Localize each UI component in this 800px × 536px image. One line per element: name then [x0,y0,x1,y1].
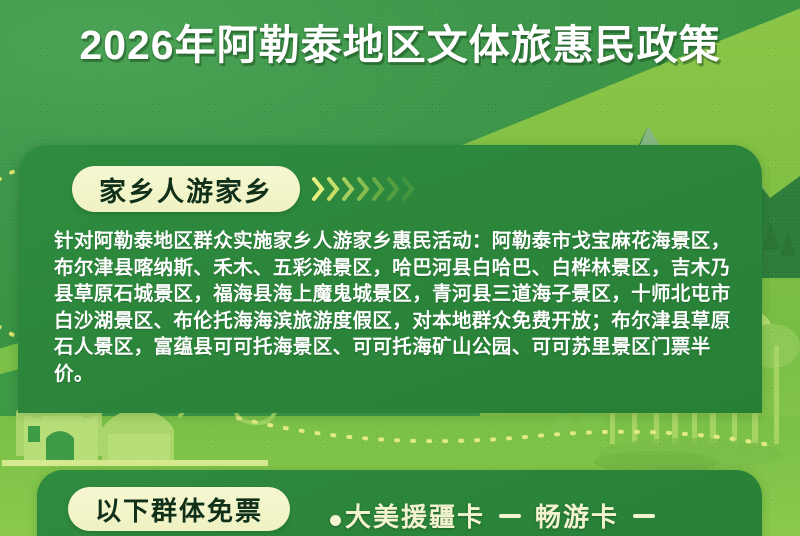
hometown-policy-paragraph: 针对阿勒泰地区群众实施家乡人游家乡惠民活动：阿勒泰市戈宝麻花海景区，布尔津县喀纳… [54,228,744,387]
page-title: 2026年阿勒泰地区文体旅惠民政策 [0,14,800,76]
poster-root: 2026年阿勒泰地区文体旅惠民政策 家乡人游家乡 针对阿勒泰地区群众实施家乡人游… [0,0,800,536]
free-tickets-item-list: 大美援疆卡 畅游卡 [330,497,655,534]
free-tickets-section-badge[interactable]: 以下群体免票 [68,487,290,531]
dash-right-icon [633,514,655,518]
free-tickets-item-0[interactable]: 大美援疆卡 [330,497,485,534]
hometown-policy-text: 针对阿勒泰地区群众实施家乡人游家乡惠民活动：阿勒泰市戈宝麻花海景区，布尔津县喀纳… [54,228,744,387]
free-tickets-item-0-label: 大美援疆卡 [345,497,485,534]
free-tickets-item-1-label[interactable]: 畅游卡 [535,497,619,534]
dash-left-icon [499,514,521,518]
hometown-section-badge[interactable]: 家乡人游家乡 [72,166,300,212]
bullet-dot-icon [330,515,341,526]
chevron-right-group-icon [312,176,415,202]
